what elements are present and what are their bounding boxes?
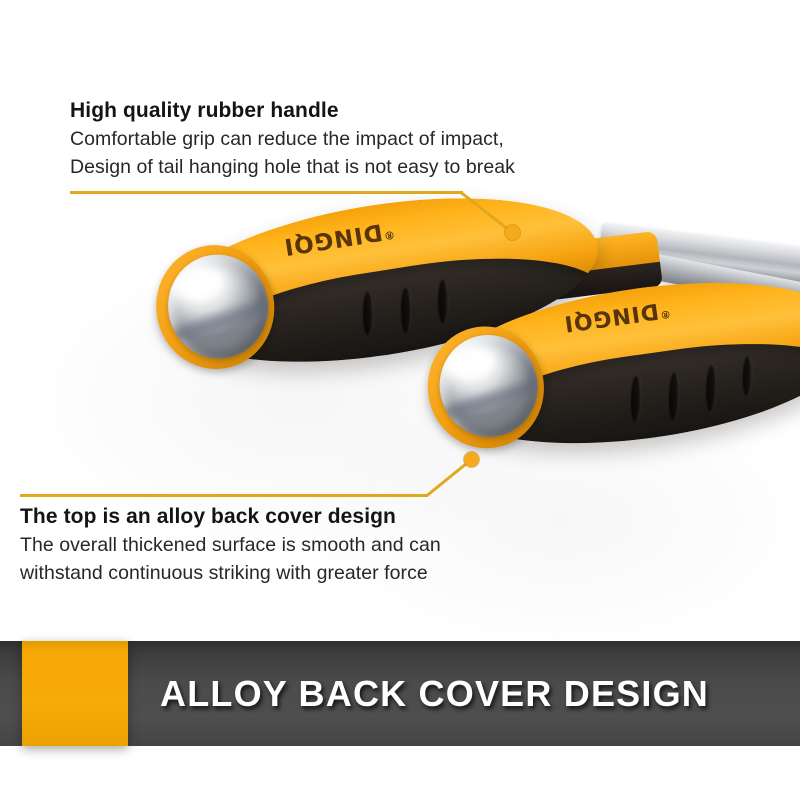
callout-leader-horizontal — [70, 191, 463, 194]
callout-heading-bottom: The top is an alloy back cover design — [20, 504, 441, 530]
banner-accent-bar — [22, 641, 128, 746]
registered-symbol: ® — [658, 307, 671, 320]
callout-text-top: High quality rubber handle Comfortable g… — [70, 98, 515, 182]
callout-body-line: withstand continuous striking with great… — [20, 560, 441, 588]
grip-groove — [363, 291, 372, 335]
callout-text-bottom: The top is an alloy back cover design Th… — [20, 504, 441, 588]
callout-heading-top: High quality rubber handle — [70, 98, 515, 124]
grip-groove — [401, 287, 410, 333]
callout-leader-horizontal — [20, 494, 428, 497]
product-infographic: ®DINGQI ®DINGQI — [0, 0, 800, 800]
product-photo: ®DINGQI ®DINGQI — [0, 0, 800, 640]
callout-body-line: Design of tail hanging hole that is not … — [70, 154, 515, 182]
registered-symbol: ® — [382, 228, 396, 243]
bottom-banner: ALLOY BACK COVER DESIGN — [0, 641, 800, 746]
callout-body-line: The overall thickened surface is smooth … — [20, 532, 441, 560]
banner-title: ALLOY BACK COVER DESIGN — [160, 641, 709, 746]
callout-dot-bottom — [464, 452, 479, 467]
callout-body-line: Comfortable grip can reduce the impact o… — [70, 126, 515, 154]
callout-dot-top — [505, 225, 520, 240]
